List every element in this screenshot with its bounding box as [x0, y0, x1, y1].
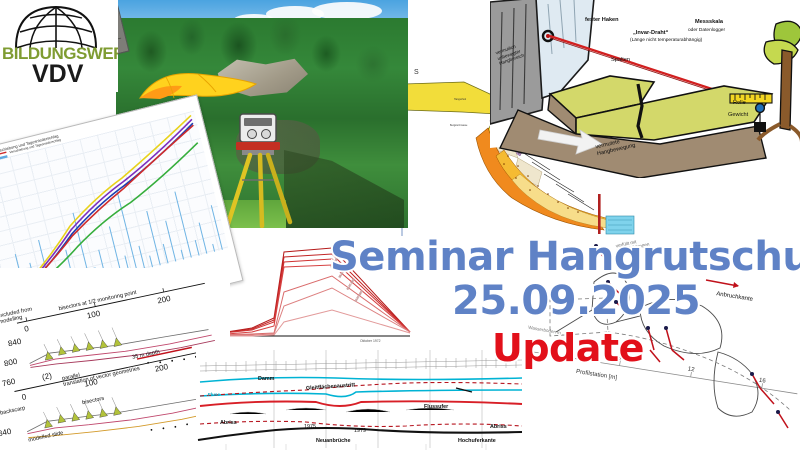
svg-text:200: 200 [156, 294, 171, 306]
label-messskala: Messskala [695, 19, 723, 25]
svg-text:0: 0 [23, 324, 30, 334]
bildungswerk-vdv-logo[interactable]: BILDUNGSWERK VDV [0, 0, 118, 92]
damm-flussufer-plan: Damm Gleitflächenaustritt Fluss Flussufe… [196, 348, 526, 450]
svg-text:4: 4 [548, 344, 553, 351]
svg-text:8: 8 [617, 355, 622, 362]
svg-text:0: 0 [21, 392, 28, 402]
invar-diagram-svg [490, 0, 800, 178]
label-gewicht: Gewicht [728, 112, 748, 118]
label-rolle: Rolle [733, 100, 746, 106]
total-station-tripod-icon [222, 108, 298, 228]
svg-text:10.07.1972: 10.07.1972 [353, 289, 364, 303]
displacement-vector-profile: 4 8 12 16 Profilstation [m] [520, 236, 800, 450]
svg-text:28.06.1972: 28.06.1972 [337, 265, 348, 279]
label-spalten: Spalten [611, 57, 630, 63]
label-neuanbrueche: Neuanbrüche [316, 438, 350, 444]
seminar-poster-collage: S [0, 0, 800, 450]
svg-text:16: 16 [758, 378, 766, 385]
svg-text:Oktober 1972: Oktober 1972 [360, 339, 381, 343]
label-damm: Damm [258, 376, 274, 382]
svg-text:200: 200 [154, 362, 169, 374]
vector-profile-svg: 4 8 12 16 Profilstation [m] [520, 236, 800, 450]
label-abriss-right: Abriss [490, 424, 507, 430]
invar-wire-monitoring-illustration: fester Haken „Invar-Draht“ (Länge nicht … [490, 0, 800, 178]
label-hochuferkante: Hochuferkante [458, 438, 496, 444]
svg-text:S: S [414, 69, 419, 76]
label-invar-draht: „Invar-Draht“ [633, 30, 668, 36]
svg-text:12: 12 [687, 366, 695, 373]
label-scale-50mm: 50 mm [706, 266, 723, 272]
label-flussufer: Flussufer [424, 404, 448, 410]
label-invar-draht-note: (Länge nicht temperaturabhängig) [630, 38, 702, 43]
label-abriss-left: Abriss [220, 420, 237, 426]
label-year-1975: 1975 [304, 424, 316, 430]
label-datenlogger: oder Datenlogger [688, 28, 725, 33]
svg-text:Profilstation [m]: Profilstation [m] [576, 369, 618, 381]
logo-line-vdv: VDV [32, 60, 83, 89]
label-fester-haken: fester Haken [585, 17, 619, 23]
svg-text:Bergsturzmasse: Bergsturzmasse [450, 124, 468, 127]
label-year-1979: 1979 [354, 428, 366, 434]
svg-text:Hangschutt: Hangschutt [454, 98, 466, 101]
damm-svg [196, 348, 526, 450]
label-fluss: Fluss [208, 392, 220, 397]
svg-text:100: 100 [86, 309, 101, 321]
